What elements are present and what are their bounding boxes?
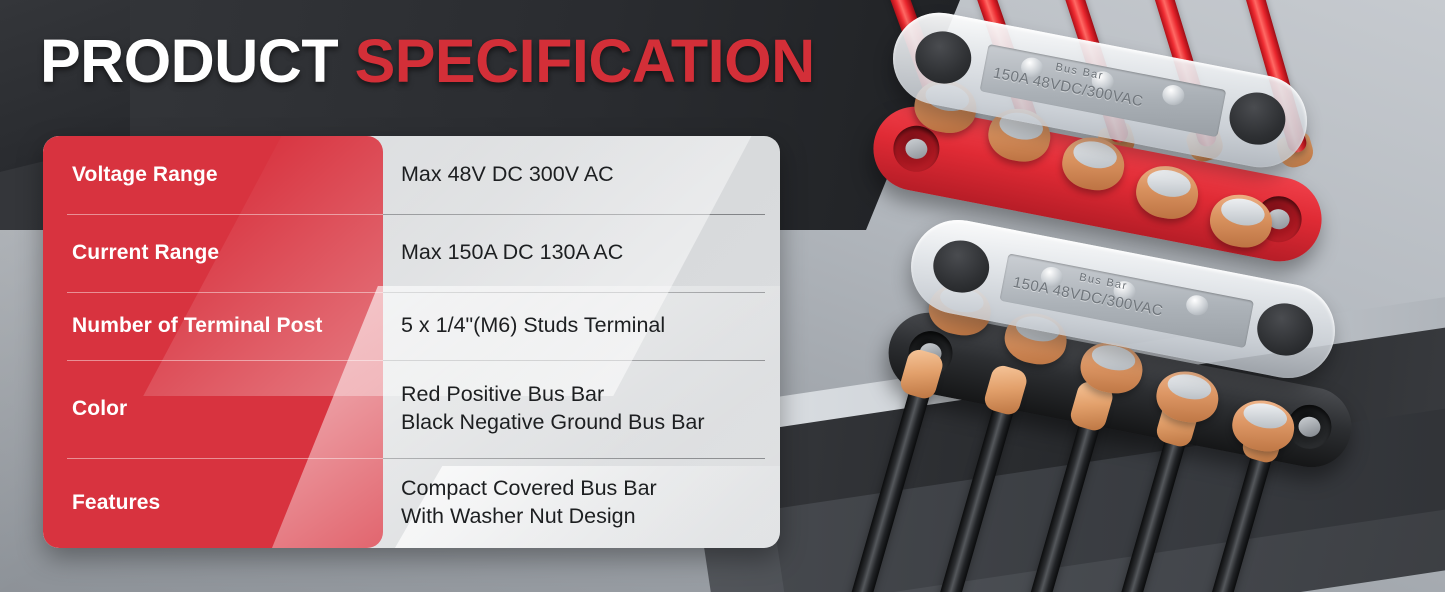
product-photo: Bus Bar 150A 48VDC/300VAC Bus Bar 150A 4… bbox=[830, 0, 1445, 592]
spec-table-row: Number of Terminal Post5 x 1/4"(M6) Stud… bbox=[43, 292, 780, 360]
spec-label-cell: Current Range bbox=[43, 214, 383, 292]
spec-table-row: FeaturesCompact Covered Bus BarWith Wash… bbox=[43, 458, 780, 548]
spec-value-cell: Max 48V DC 300V AC bbox=[383, 136, 780, 214]
page-title: PRODUCT SPECIFICATION bbox=[40, 31, 815, 92]
spec-label-cell: Color bbox=[43, 360, 383, 458]
spec-value-line: Black Negative Ground Bus Bar bbox=[401, 409, 780, 437]
spec-table-rows: Voltage RangeMax 48V DC 300V ACCurrent R… bbox=[43, 136, 780, 548]
cover-cap-icon bbox=[929, 236, 994, 298]
spec-table-row: ColorRed Positive Bus BarBlack Negative … bbox=[43, 360, 780, 458]
cover-cap-icon bbox=[1253, 299, 1318, 361]
spec-label-cell: Number of Terminal Post bbox=[43, 292, 383, 360]
spec-value-cell: Max 150A DC 130A AC bbox=[383, 214, 780, 292]
title-word-product: PRODUCT bbox=[40, 27, 338, 95]
cover-cap-icon bbox=[911, 27, 976, 89]
spec-table-row: Current RangeMax 150A DC 130A AC bbox=[43, 214, 780, 292]
spec-table-panel: Voltage RangeMax 48V DC 300V ACCurrent R… bbox=[43, 136, 780, 548]
spec-value-cell: 5 x 1/4"(M6) Studs Terminal bbox=[383, 292, 780, 360]
spec-value-line: With Washer Nut Design bbox=[401, 503, 780, 531]
spec-value-cell: Compact Covered Bus BarWith Washer Nut D… bbox=[383, 458, 780, 548]
spec-value-line: 5 x 1/4"(M6) Studs Terminal bbox=[401, 312, 780, 340]
spec-table-row: Voltage RangeMax 48V DC 300V AC bbox=[43, 136, 780, 214]
spec-value-line: Max 150A DC 130A AC bbox=[401, 239, 780, 267]
spec-value-line: Max 48V DC 300V AC bbox=[401, 161, 780, 189]
spec-value-line: Compact Covered Bus Bar bbox=[401, 475, 780, 503]
spec-label-cell: Voltage Range bbox=[43, 136, 383, 214]
product-specification-banner: PRODUCT SPECIFICATION Voltage RangeMax 4… bbox=[0, 0, 1445, 592]
spec-value-line: Red Positive Bus Bar bbox=[401, 381, 780, 409]
cover-cap-icon bbox=[1225, 88, 1290, 150]
spec-value-cell: Red Positive Bus BarBlack Negative Groun… bbox=[383, 360, 780, 458]
spec-label-cell: Features bbox=[43, 458, 383, 548]
title-word-specification: SPECIFICATION bbox=[355, 27, 815, 95]
